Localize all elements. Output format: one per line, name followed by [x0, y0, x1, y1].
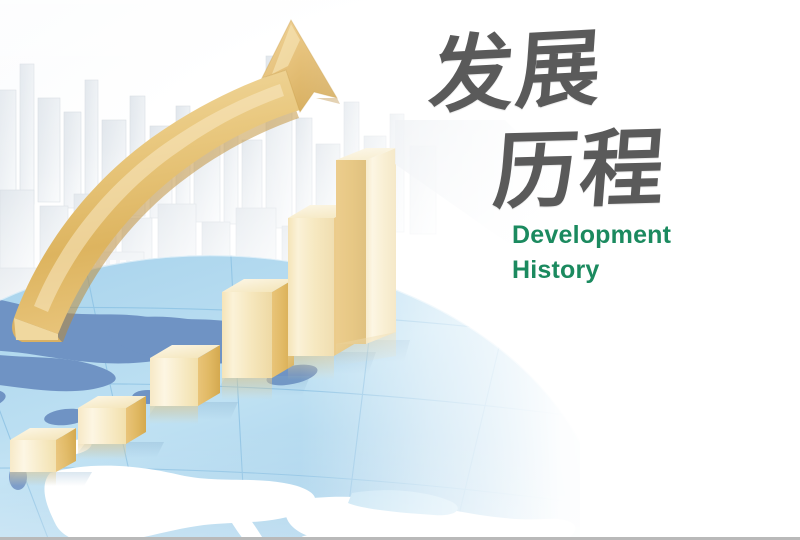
banner-graphic: 发展 历程 Development History — [0, 0, 800, 540]
title-block: 发展 历程 Development History — [430, 16, 730, 296]
english-title-line-1: Development — [512, 221, 671, 250]
bar-6 — [336, 148, 396, 366]
calligraphy-line-2: 历程 — [488, 128, 666, 212]
calligraphy-line-2-text: 历程 — [490, 126, 669, 214]
calligraphy-line-1-text: 发展 — [427, 26, 606, 119]
english-title-line-2: History — [512, 256, 600, 285]
calligraphy-line-1: 发展 — [430, 30, 602, 114]
